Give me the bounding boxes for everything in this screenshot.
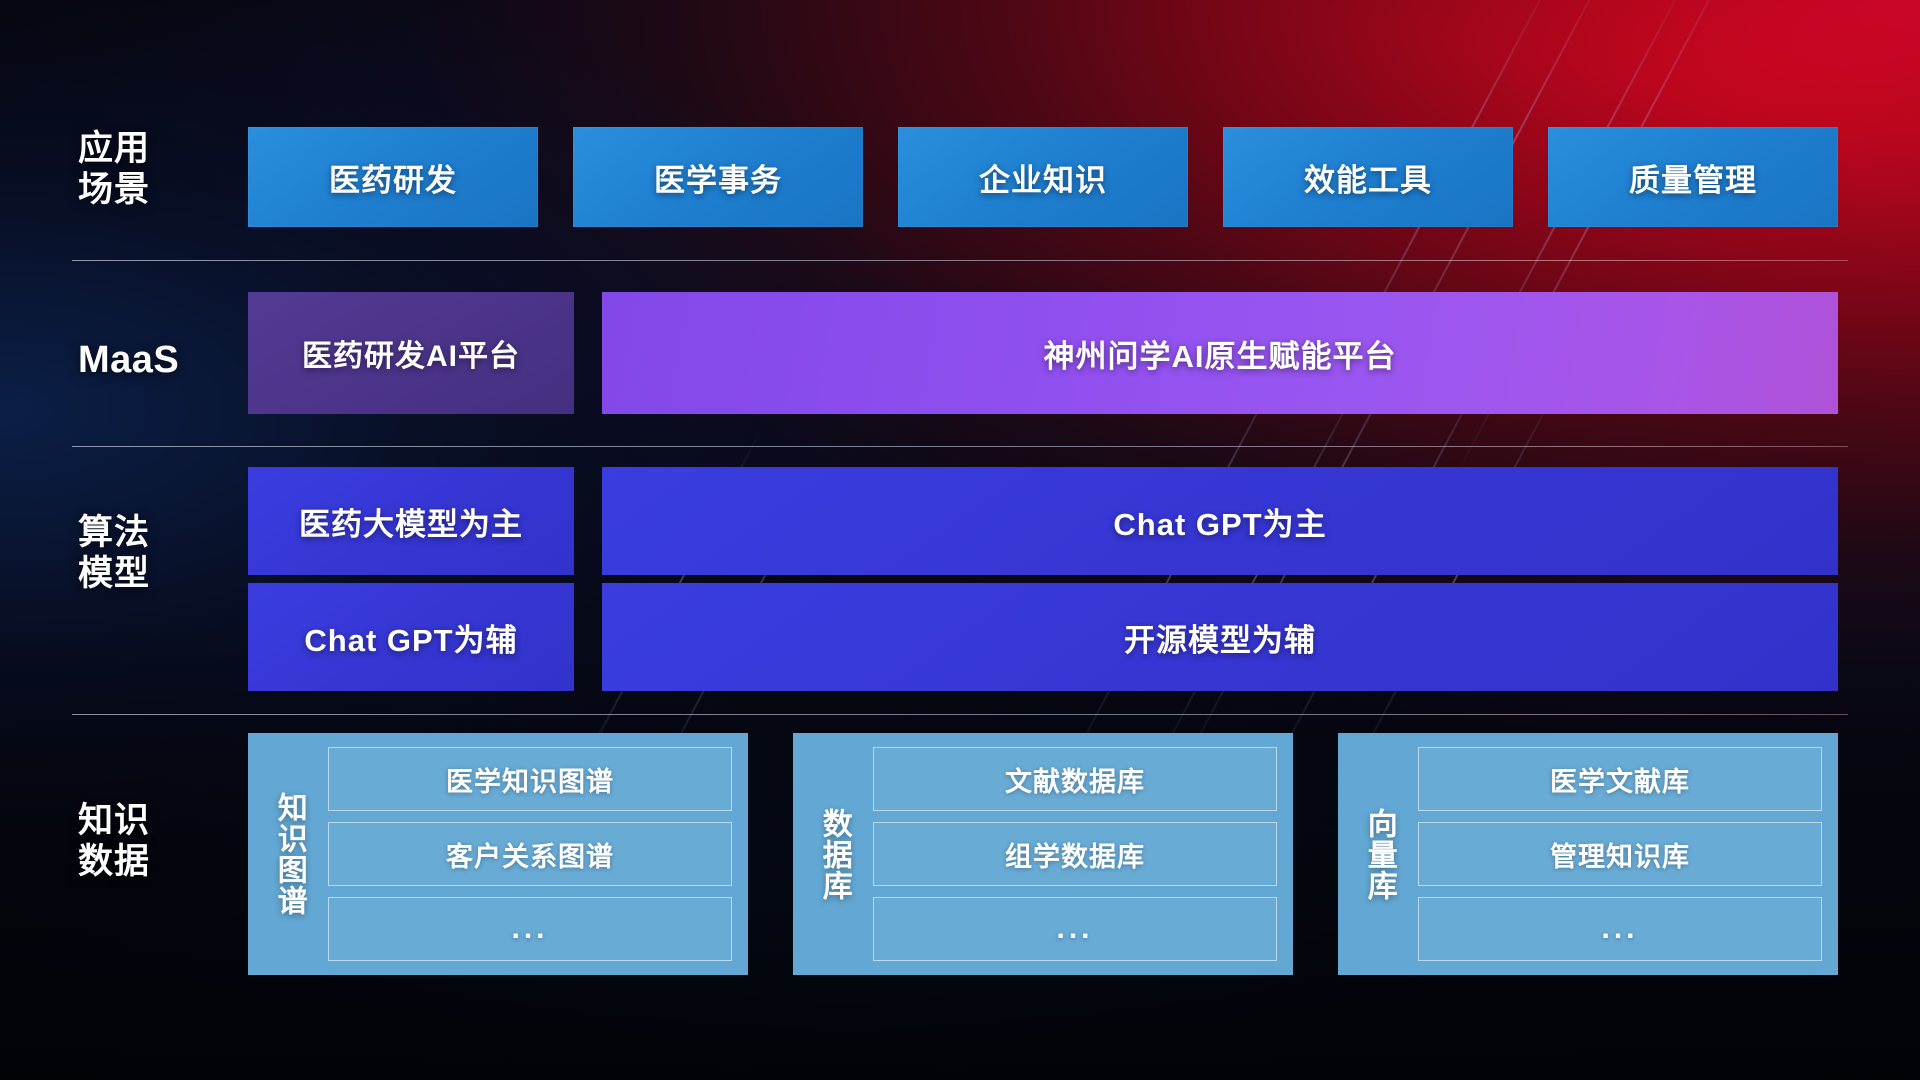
knowledge-item-medical-literature-store[interactable]: 医学文献库 [1418,747,1822,811]
row-label-knowledge: 知识 数据 [78,800,238,883]
knowledge-panel-database-label: 数据库 [803,747,865,961]
row-label-maas: MaaS [78,338,238,383]
row-label-algorithm: 算法 模型 [78,512,238,595]
maas-box-medicine-ai-platform[interactable]: 医药研发AI平台 [248,292,574,414]
app-box-quality-management[interactable]: 质量管理 [1548,127,1838,227]
row-label-application: 应用 场景 [78,128,238,211]
algo-box-chatgpt-secondary[interactable]: Chat GPT为辅 [248,583,574,691]
app-box-enterprise-knowledge[interactable]: 企业知识 [898,127,1188,227]
divider-application-maas [72,260,1848,261]
knowledge-panel-vector[interactable]: 向量库 医学文献库 管理知识库 ... [1338,733,1838,975]
knowledge-panel-graph[interactable]: 知识图谱 医学知识图谱 客户关系图谱 ... [248,733,748,975]
knowledge-item-omics-db[interactable]: 组学数据库 [873,822,1277,886]
algo-box-medicine-large-model-primary[interactable]: 医药大模型为主 [248,467,574,575]
slide-canvas: 应用 场景 医药研发 医学事务 企业知识 效能工具 质量管理 MaaS 医药研发… [0,0,1920,1080]
knowledge-item-database-more[interactable]: ... [873,897,1277,961]
maas-box-shenzhou-wenxue-platform[interactable]: 神州问学AI原生赋能平台 [602,292,1838,414]
divider-algorithm-knowledge [72,714,1848,715]
knowledge-item-literature-db[interactable]: 文献数据库 [873,747,1277,811]
knowledge-item-vector-more[interactable]: ... [1418,897,1822,961]
knowledge-panel-database[interactable]: 数据库 文献数据库 组学数据库 ... [793,733,1293,975]
knowledge-panel-graph-items: 医学知识图谱 客户关系图谱 ... [320,747,732,961]
app-box-efficiency-tools[interactable]: 效能工具 [1223,127,1513,227]
knowledge-item-graph-more[interactable]: ... [328,897,732,961]
knowledge-panel-database-items: 文献数据库 组学数据库 ... [865,747,1277,961]
algo-box-opensource-secondary[interactable]: 开源模型为辅 [602,583,1838,691]
knowledge-panel-vector-items: 医学文献库 管理知识库 ... [1410,747,1822,961]
app-box-medicine-rd[interactable]: 医药研发 [248,127,538,227]
algo-box-chatgpt-primary[interactable]: Chat GPT为主 [602,467,1838,575]
knowledge-item-management-knowledge-store[interactable]: 管理知识库 [1418,822,1822,886]
architecture-diagram: 应用 场景 医药研发 医学事务 企业知识 效能工具 质量管理 MaaS 医药研发… [0,0,1920,1080]
app-box-medical-affairs[interactable]: 医学事务 [573,127,863,227]
knowledge-item-customer-graph[interactable]: 客户关系图谱 [328,822,732,886]
divider-maas-algorithm [72,446,1848,447]
knowledge-item-medical-graph[interactable]: 医学知识图谱 [328,747,732,811]
knowledge-panel-vector-label: 向量库 [1348,747,1410,961]
knowledge-panel-graph-label: 知识图谱 [258,747,320,961]
